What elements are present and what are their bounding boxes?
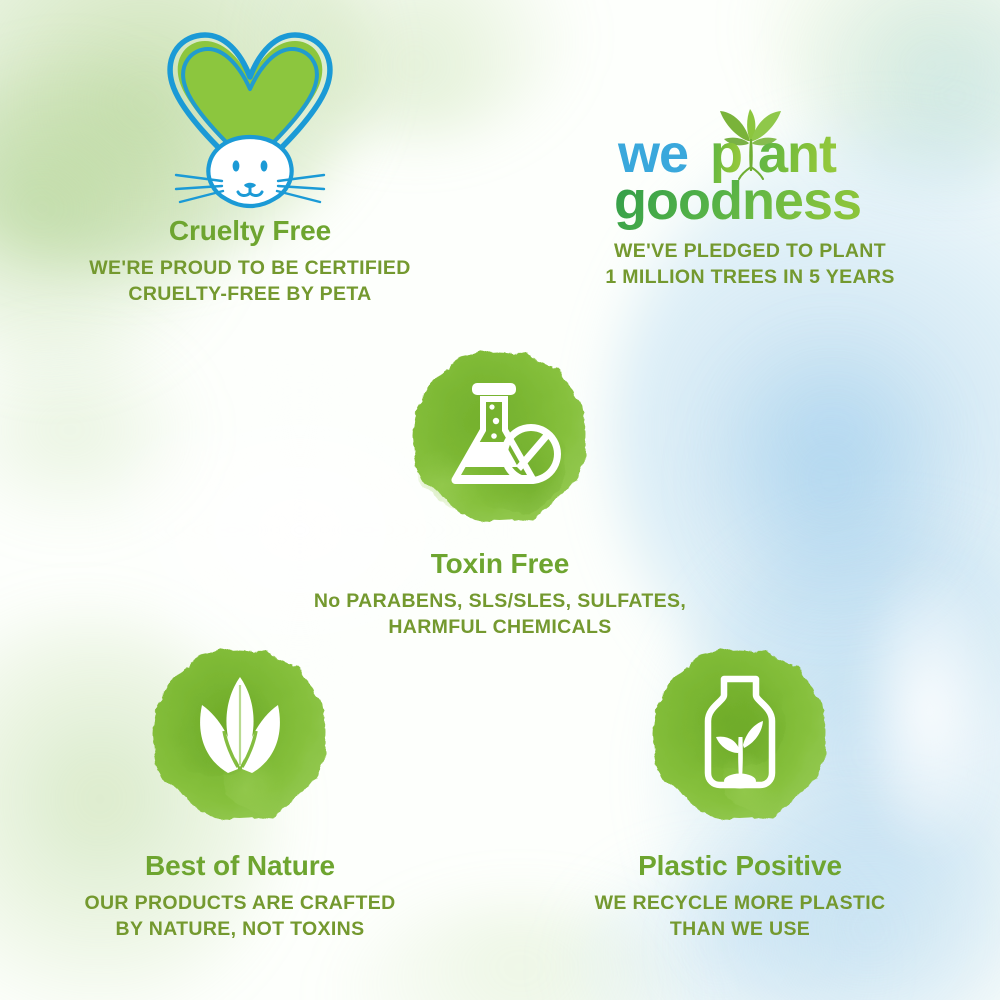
badge-disc [646, 641, 834, 829]
feature-we-plant-goodness: we p ant goodness WE'VE PLEDGED TO PLANT… [520, 95, 980, 291]
feature-title: Cruelty Free [22, 216, 478, 247]
feature-cruelty-free: Cruelty Free WE'RE PROUD TO BE CERTIFIED… [22, 25, 478, 308]
feature-subtitle: WE'VE PLEDGED TO PLANT 1 MILLION TREES I… [520, 239, 980, 291]
badge-disc [146, 641, 334, 829]
feature-title: Plastic Positive [510, 851, 970, 882]
feature-subtitle: WE'RE PROUD TO BE CERTIFIED CRUELTY-FREE… [22, 256, 478, 308]
feature-title: Best of Nature [10, 851, 470, 882]
feature-subtitle: WE RECYCLE MORE PLASTIC THAN WE USE [510, 891, 970, 943]
feature-plastic-positive: Plastic Positive WE RECYCLE MORE PLASTIC… [510, 641, 970, 943]
we-plant-goodness-logo: we p ant goodness [600, 95, 900, 230]
infographic-page: Cruelty Free WE'RE PROUD TO BE CERTIFIED… [0, 0, 1000, 1000]
feature-best-of-nature: Best of Nature OUR PRODUCTS ARE CRAFTED … [10, 641, 470, 943]
feature-subtitle: No PARABENS, SLS/SLES, SULFATES, HARMFUL… [270, 589, 730, 641]
feature-toxin-free: Toxin Free No PARABENS, SLS/SLES, SULFAT… [270, 343, 730, 641]
logo-word-goodness: goodness [614, 171, 861, 230]
blue-wash-right-mid [700, 330, 960, 630]
peta-cruelty-free-bunny-logo [150, 25, 350, 210]
green-wash-left-mid [0, 330, 200, 530]
badge-disc [406, 343, 594, 531]
feature-subtitle: OUR PRODUCTS ARE CRAFTED BY NATURE, NOT … [10, 891, 470, 943]
feature-title: Toxin Free [270, 549, 730, 580]
